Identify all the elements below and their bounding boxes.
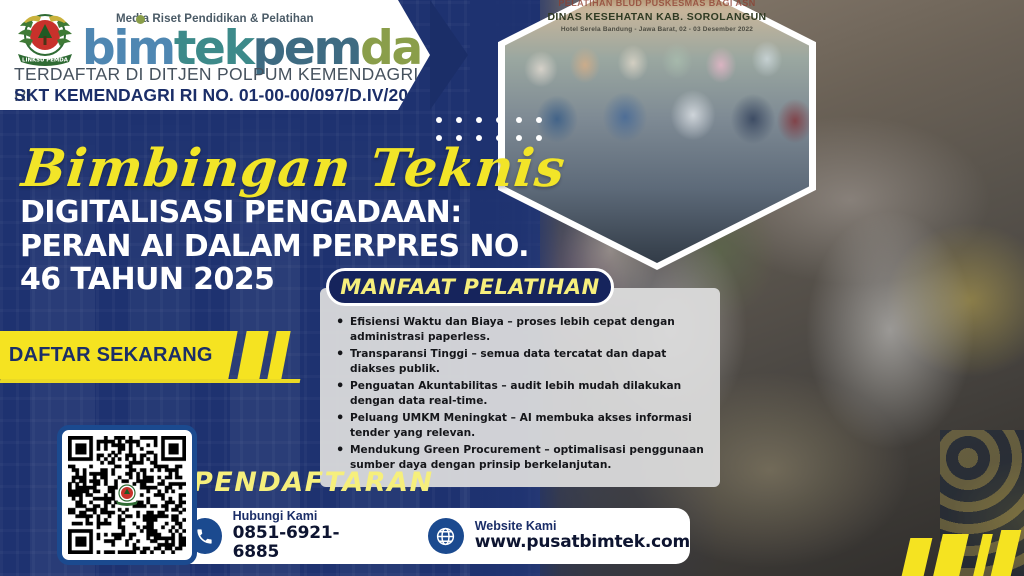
daftar-sekarang-button[interactable]: DAFTAR SEKARANG xyxy=(0,331,238,379)
globe-icon xyxy=(428,518,464,554)
registration-heading: PENDAFTARAN xyxy=(193,467,434,498)
phone-label: Hubungi Kami xyxy=(233,509,376,523)
benefits-heading-pill: MANFAAT PELATIHAN xyxy=(326,268,614,306)
promotional-poster: LINKSU PEMDA Media Riset Pendidikan & Pe… xyxy=(0,0,1024,576)
contact-phone[interactable]: Hubungi Kami 0851-6921-6885 xyxy=(188,509,376,562)
brand-header: LINKSU PEMDA Media Riset Pendidikan & Pe… xyxy=(0,0,430,110)
website-value: www.pusatbimtek.com xyxy=(475,533,690,553)
qr-center-emblem-icon xyxy=(114,483,140,507)
svg-text:LINKSU PEMDA: LINKSU PEMDA xyxy=(22,58,69,64)
korpri-emblem-icon: LINKSU PEMDA xyxy=(12,8,78,70)
list-item: Efisiensi Waktu dan Biaya – proses lebih… xyxy=(334,315,706,345)
main-title-line-1: DIGITALISASI PENGADAAN: xyxy=(20,196,470,230)
website-text: Website Kami www.pusatbimtek.com xyxy=(475,519,690,553)
brand-tagline-row: Media Riset Pendidikan & Pelatihan xyxy=(116,14,421,26)
registration-line-2: SKT KEMENDAGRI RI NO. 01-00-00/097/D.IV/… xyxy=(14,85,428,106)
tagline-dot-icon xyxy=(136,15,145,24)
phone-text: Hubungi Kami 0851-6921-6885 xyxy=(233,509,376,562)
list-item: Transparansi Tinggi – semua data tercata… xyxy=(334,347,706,377)
main-title-line-2: PERAN AI DALAM PERPRES NO. xyxy=(20,230,470,264)
hexagon-group-photo: PELATIHAN BLUD PUSKESMAS BAGI ASN DINAS … xyxy=(498,0,816,270)
benefits-body: Efisiensi Waktu dan Biaya – proses lebih… xyxy=(320,288,720,487)
registration-qr-code[interactable] xyxy=(57,425,197,565)
phone-value: 0851-6921-6885 xyxy=(233,524,376,563)
website-label: Website Kami xyxy=(475,519,690,533)
yellow-divider-rule xyxy=(0,379,300,383)
bimtekpemda-wordmark: Media Riset Pendidikan & Pelatihan bimte… xyxy=(82,14,421,70)
benefits-panel: MANFAAT PELATIHAN Efisiensi Waktu dan Bi… xyxy=(320,268,720,487)
benefits-list: Efisiensi Waktu dan Biaya – proses lebih… xyxy=(334,315,706,473)
cta-label: DAFTAR SEKARANG xyxy=(9,344,213,367)
chevron-accent-icon xyxy=(430,0,500,110)
contact-website[interactable]: Website Kami www.pusatbimtek.com xyxy=(428,518,690,554)
list-item: Penguatan Akuntabilitas – audit lebih mu… xyxy=(334,379,706,409)
brand-tagline: Media Riset Pendidikan & Pelatihan xyxy=(116,13,314,25)
benefits-heading: MANFAAT PELATIHAN xyxy=(340,275,600,299)
script-headline: Bimbingan Teknis xyxy=(19,138,569,199)
hexagon-photo-image xyxy=(505,0,809,263)
list-item: Peluang UMKM Meningkat – AI membuka akse… xyxy=(334,411,706,441)
